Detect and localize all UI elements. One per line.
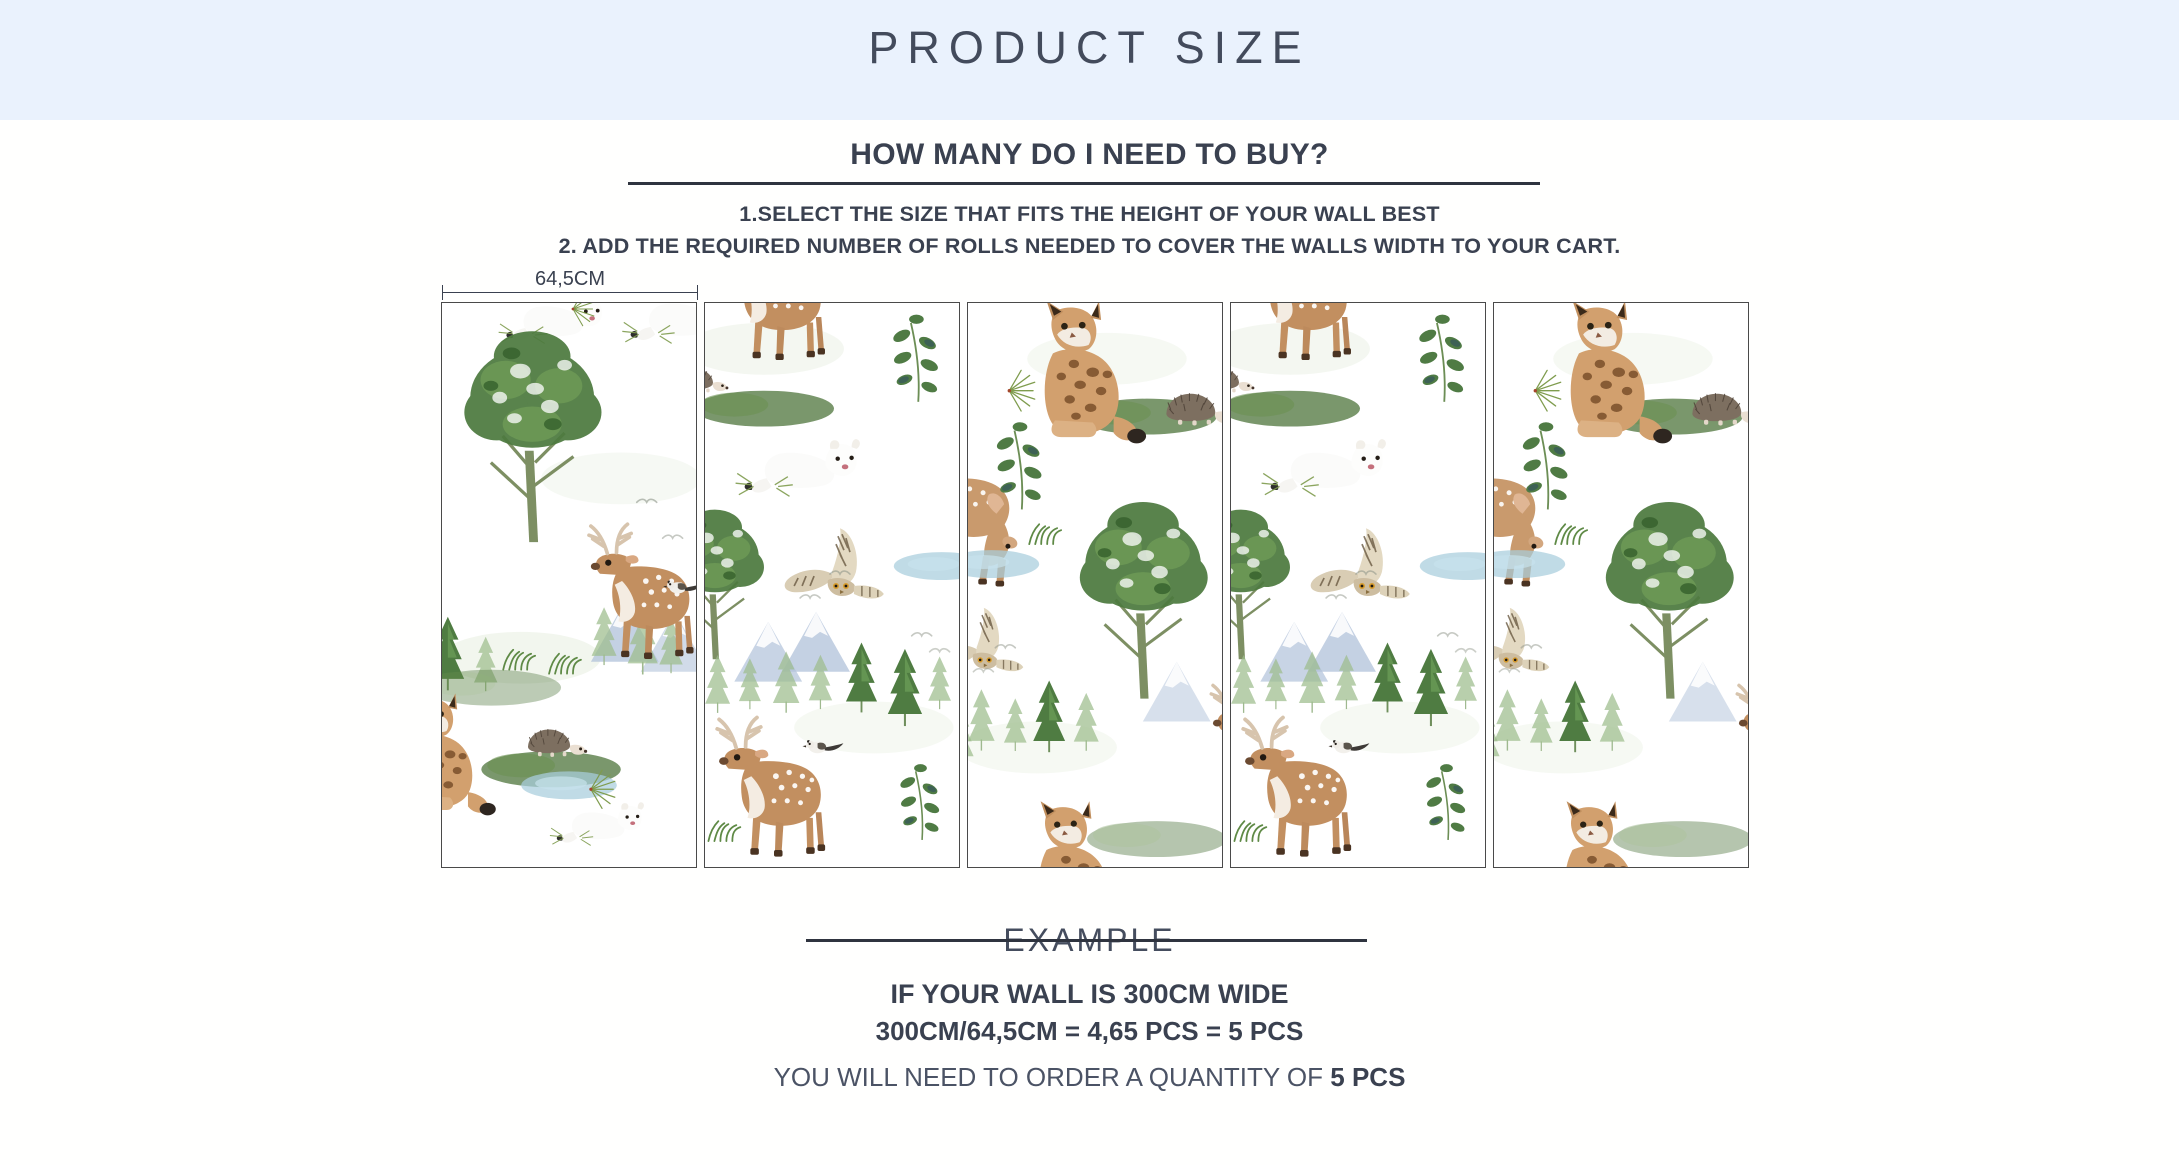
instruction-step-2: 2. ADD THE REQUIRED NUMBER OF ROLLS NEED… xyxy=(0,234,2179,259)
wallpaper-panel-4[interactable] xyxy=(1230,302,1486,868)
order-quantity-value: 5 PCS xyxy=(1330,1062,1405,1092)
dimension-line xyxy=(442,292,698,293)
order-quantity-prefix: YOU WILL NEED TO ORDER A QUANTITY OF xyxy=(774,1062,1331,1092)
panel-1-artwork xyxy=(442,303,696,867)
panel-2-artwork xyxy=(705,303,959,867)
wallpaper-panel-strip xyxy=(441,302,1749,868)
wallpaper-panel-5[interactable] xyxy=(1493,302,1749,868)
example-divider xyxy=(806,939,1367,942)
panel-3-artwork xyxy=(968,303,1222,867)
heading-divider xyxy=(628,182,1540,185)
wallpaper-panel-1[interactable] xyxy=(441,302,697,868)
wallpaper-panel-3[interactable] xyxy=(967,302,1223,868)
example-order-quantity: YOU WILL NEED TO ORDER A QUANTITY OF 5 P… xyxy=(0,1062,2179,1093)
page-title: PRODUCT SIZE xyxy=(0,22,2179,74)
example-wall-width: IF YOUR WALL IS 300CM WIDE xyxy=(0,979,2179,1010)
dimension-width-label: 64,5CM xyxy=(442,268,698,291)
how-many-heading: HOW MANY DO I NEED TO BUY? xyxy=(0,138,2179,172)
wallpaper-panel-2[interactable] xyxy=(704,302,960,868)
panel-5-artwork xyxy=(1494,303,1748,867)
example-calculation: 300CM/64,5CM = 4,65 PCS = 5 PCS xyxy=(0,1016,2179,1047)
panel-4-artwork xyxy=(1231,303,1485,867)
instruction-step-1: 1.SELECT THE SIZE THAT FITS THE HEIGHT O… xyxy=(0,202,2179,227)
dimension-cap-right xyxy=(697,285,698,300)
dimension-cap-left xyxy=(442,285,443,300)
